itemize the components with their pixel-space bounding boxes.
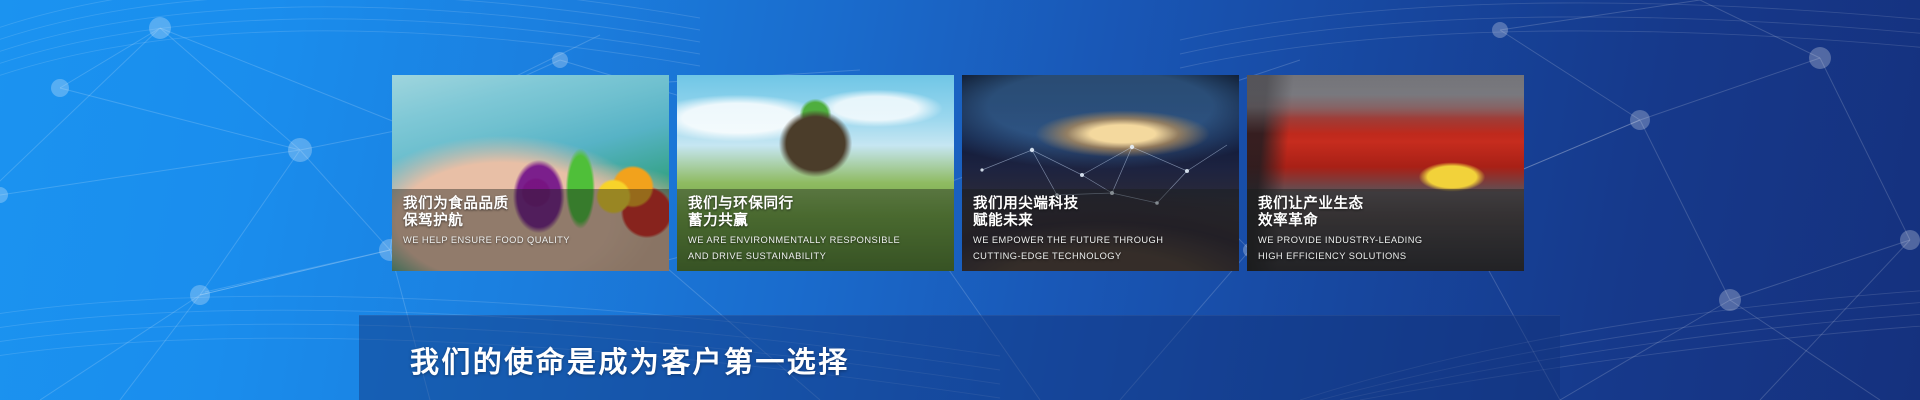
value-card[interactable]: 我们与环保同行 蓄力共赢 WE ARE ENVIRONMENTALLY RESP… <box>677 75 954 271</box>
value-card-caption: 我们与环保同行 蓄力共赢 WE ARE ENVIRONMENTALLY RESP… <box>677 189 954 271</box>
value-card-en-line1: WE HELP ENSURE FOOD QUALITY <box>403 234 658 246</box>
value-card-caption: 我们为食品品质 保驾护航 WE HELP ENSURE FOOD QUALITY <box>392 189 669 271</box>
value-card-cn-line1: 我们用尖端科技 <box>973 196 1228 213</box>
value-card-cn-line2: 赋能未来 <box>973 213 1228 230</box>
value-card-en-line1: WE PROVIDE INDUSTRY-LEADING <box>1258 234 1513 246</box>
value-card-cn-line1: 我们为食品品质 <box>403 196 658 213</box>
value-card[interactable]: 我们为食品品质 保驾护航 WE HELP ENSURE FOOD QUALITY <box>392 75 669 271</box>
value-card-row: 我们为食品品质 保驾护航 WE HELP ENSURE FOOD QUALITY… <box>392 75 1524 271</box>
value-card-cn-line1: 我们让产业生态 <box>1258 196 1513 213</box>
value-card-en-line1: WE EMPOWER THE FUTURE THROUGH <box>973 234 1228 246</box>
value-card-cn-line1: 我们与环保同行 <box>688 196 943 213</box>
value-card-en-line2: CUTTING-EDGE TECHNOLOGY <box>973 250 1228 262</box>
value-card-en-line1: WE ARE ENVIRONMENTALLY RESPONSIBLE <box>688 234 943 246</box>
value-card-cn-line2: 蓄力共赢 <box>688 213 943 230</box>
value-card[interactable]: 我们让产业生态 效率革命 WE PROVIDE INDUSTRY-LEADING… <box>1247 75 1524 271</box>
hero-banner-section: 我们为食品品质 保驾护航 WE HELP ENSURE FOOD QUALITY… <box>0 0 1920 400</box>
mission-banner-title: 我们的使命是成为客户第一选择 <box>410 339 850 381</box>
value-card-cn-line2: 保驾护航 <box>403 213 658 230</box>
mission-banner: 我们的使命是成为客户第一选择 <box>359 315 1560 400</box>
value-card-cn-line2: 效率革命 <box>1258 213 1513 230</box>
value-card-caption: 我们让产业生态 效率革命 WE PROVIDE INDUSTRY-LEADING… <box>1247 189 1524 271</box>
value-card-caption: 我们用尖端科技 赋能未来 WE EMPOWER THE FUTURE THROU… <box>962 189 1239 271</box>
value-card[interactable]: 我们用尖端科技 赋能未来 WE EMPOWER THE FUTURE THROU… <box>962 75 1239 271</box>
value-card-en-line2: AND DRIVE SUSTAINABILITY <box>688 250 943 262</box>
value-card-en-line2: HIGH EFFICIENCY SOLUTIONS <box>1258 250 1513 262</box>
